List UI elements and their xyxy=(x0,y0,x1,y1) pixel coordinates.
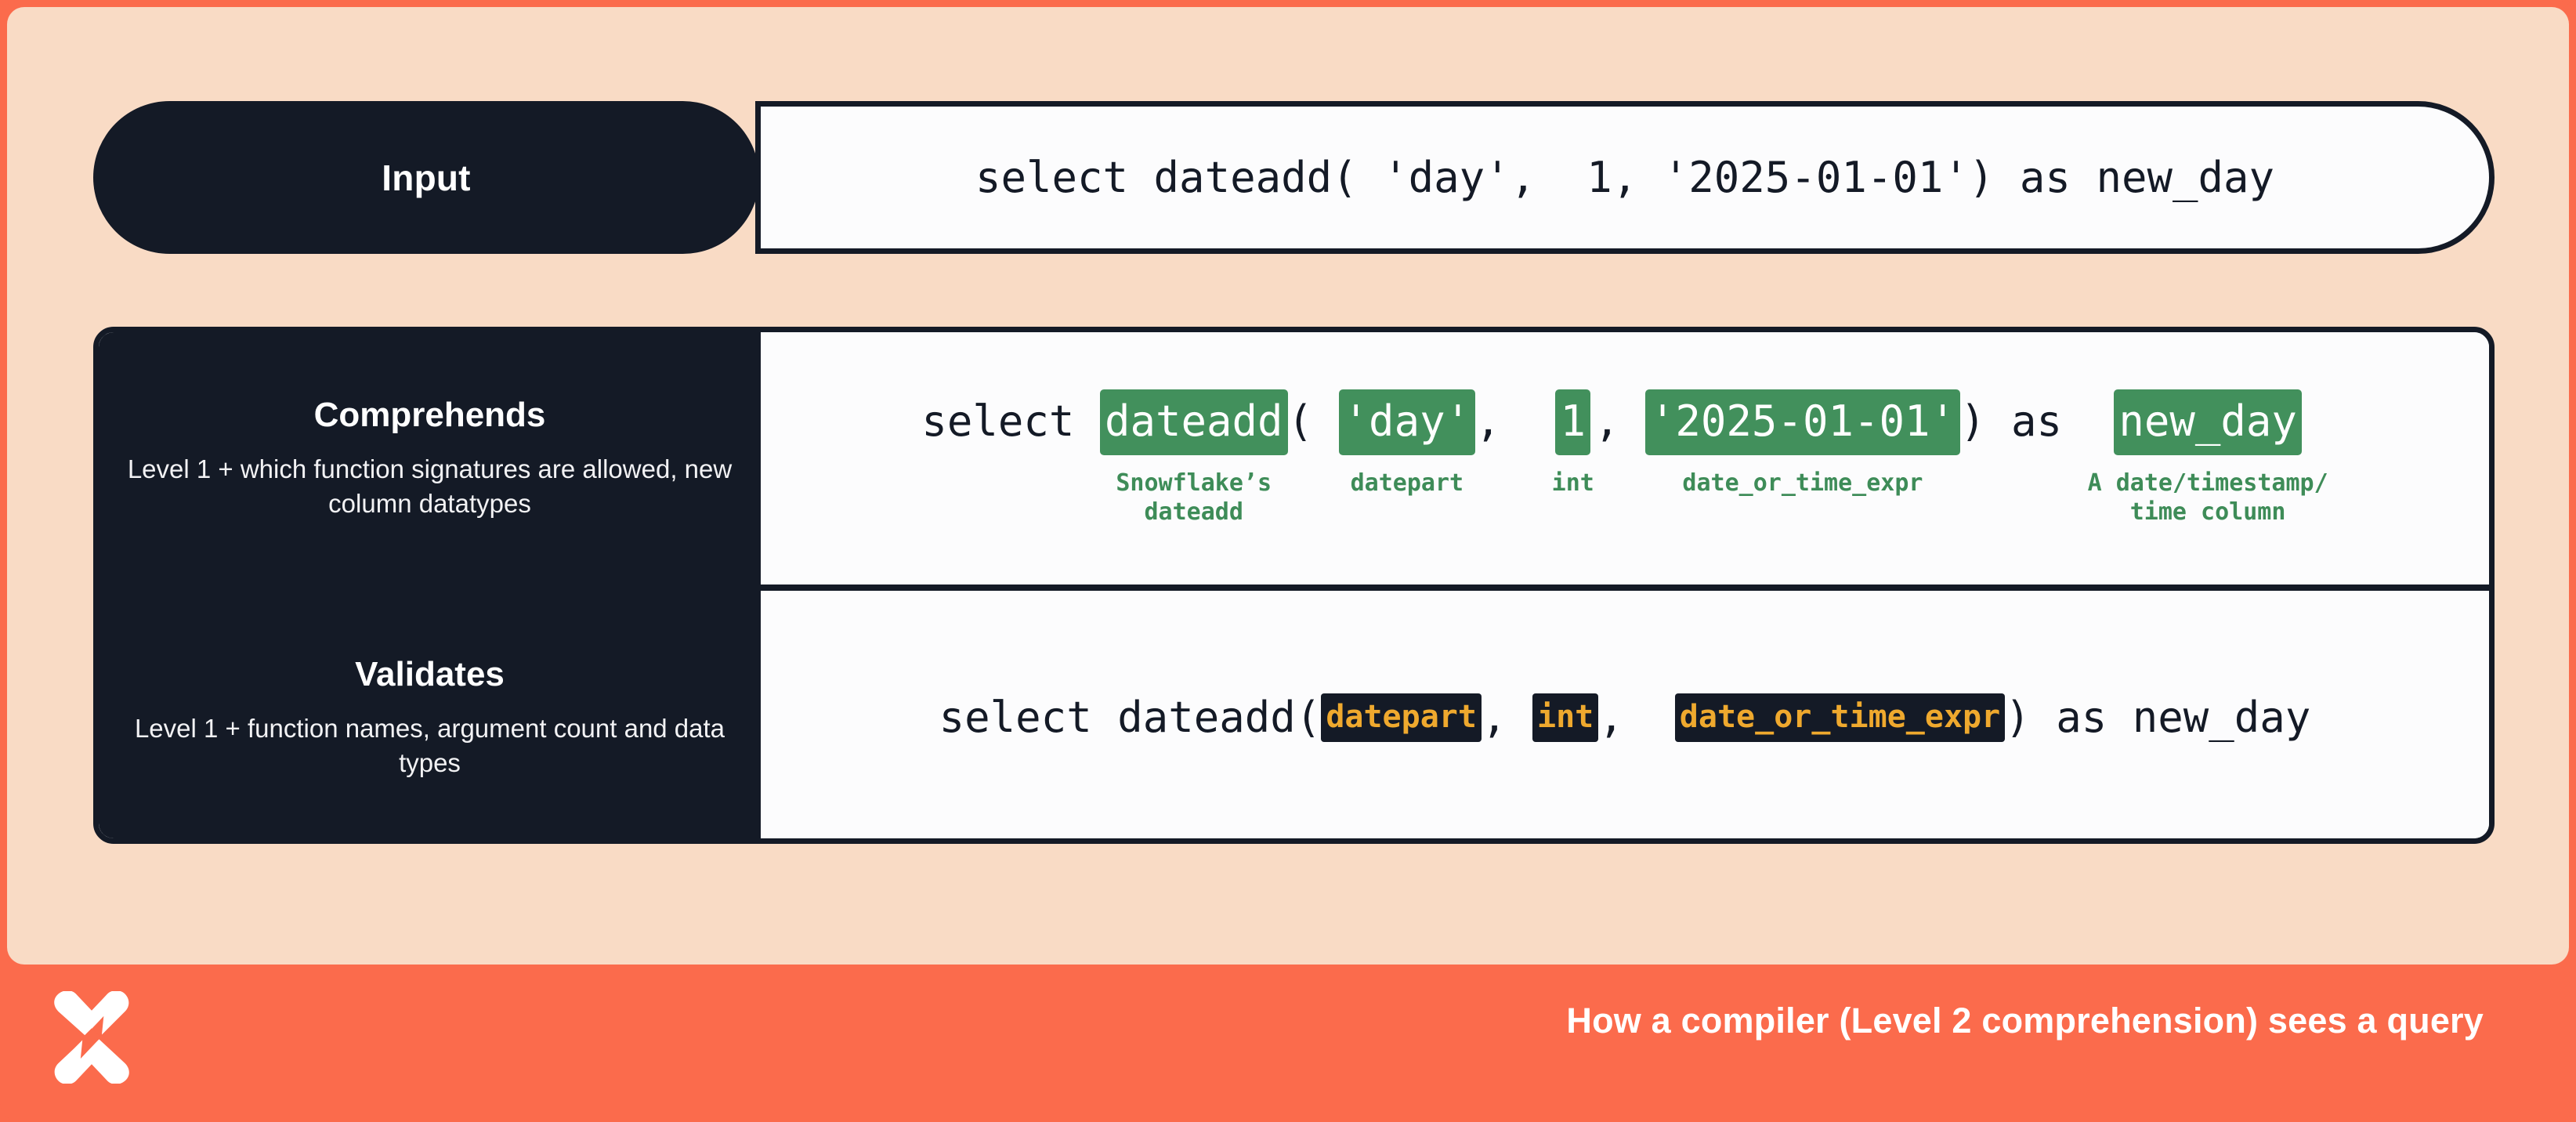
token-text: 'day' xyxy=(1339,389,1476,455)
comprehension-table: Comprehends Level 1 + which function sig… xyxy=(93,327,2495,844)
table-row: Comprehends Level 1 + which function sig… xyxy=(99,332,2489,585)
row-subtitle: Level 1 + which function signatures are … xyxy=(125,452,734,520)
input-row-label: Input xyxy=(93,101,759,254)
token-text: new_day xyxy=(2114,389,2302,455)
token-text: 1 xyxy=(1555,389,1590,455)
code-token: select dateadd( xyxy=(939,693,1322,742)
input-code-box: select dateadd( 'day', 1, '2025-01-01') … xyxy=(755,101,2495,254)
code-token: select xyxy=(921,389,1100,455)
row-subtitle: Level 1 + function names, argument count… xyxy=(125,711,734,780)
code-token: ( xyxy=(1288,389,1339,455)
token-text: select xyxy=(921,389,1100,455)
code-token: ) as new_day xyxy=(2005,693,2310,742)
placeholder-token: int xyxy=(1532,693,1598,742)
content-panel: Input select dateadd( 'day', 1, '2025-01… xyxy=(7,7,2569,965)
input-code-text: select dateadd( 'day', 1, '2025-01-01') … xyxy=(975,153,2274,202)
token-text: , xyxy=(1475,389,1552,455)
validates-code-line: select dateadd(datepart, int, date_or_ti… xyxy=(939,693,2311,742)
highlighted-token: 'day'datepart xyxy=(1339,389,1476,498)
table-row: Validates Level 1 + function names, argu… xyxy=(99,591,2489,844)
x-star-logo-icon xyxy=(45,991,138,1084)
footer-bar: How a compiler (Level 2 comprehension) s… xyxy=(0,961,2576,1122)
infographic-card: Input select dateadd( 'day', 1, '2025-01… xyxy=(0,0,2576,1122)
code-token: , xyxy=(1482,693,1532,742)
row-divider xyxy=(99,585,2489,591)
code-token: , xyxy=(1598,693,1675,742)
row-title: Validates xyxy=(355,655,505,694)
input-row: Input select dateadd( 'day', 1, '2025-01… xyxy=(93,101,2495,254)
token-annotation: date_or_time_expr xyxy=(1682,469,1923,498)
highlighted-token: dateaddSnowflake’s dateadd xyxy=(1100,389,1288,527)
token-text: , xyxy=(1594,389,1645,455)
row-title: Comprehends xyxy=(314,396,546,435)
row-body-comprehends: select dateaddSnowflake’s dateadd( 'day'… xyxy=(761,332,2489,585)
highlighted-token: '2025-01-01'date_or_time_expr xyxy=(1645,389,1960,498)
row-label-validates: Validates Level 1 + function names, argu… xyxy=(99,591,761,844)
highlighted-token: 1int xyxy=(1552,389,1594,498)
token-annotation: Snowflake’s dateadd xyxy=(1116,469,1272,527)
row-label-comprehends: Comprehends Level 1 + which function sig… xyxy=(99,332,761,585)
token-annotation: int xyxy=(1552,469,1594,498)
highlighted-token: new_dayA date/timestamp/ time column xyxy=(2088,389,2328,527)
placeholder-token: datepart xyxy=(1321,693,1482,742)
token-annotation: A date/timestamp/ time column xyxy=(2088,469,2328,527)
comprehends-code-line: select dateaddSnowflake’s dateadd( 'day'… xyxy=(921,389,2328,527)
token-text: '2025-01-01' xyxy=(1645,389,1960,455)
code-token: , xyxy=(1475,389,1552,455)
code-token: , xyxy=(1594,389,1645,455)
placeholder-token: date_or_time_expr xyxy=(1675,693,2005,742)
footer-caption: How a compiler (Level 2 comprehension) s… xyxy=(1566,1001,2484,1041)
token-text: dateadd xyxy=(1100,389,1288,455)
code-token: ) as xyxy=(1960,389,2088,455)
row-body-validates: select dateadd(datepart, int, date_or_ti… xyxy=(761,591,2489,844)
token-text: ( xyxy=(1288,389,1339,455)
token-text: ) as xyxy=(1960,389,2088,455)
token-annotation: datepart xyxy=(1351,469,1464,498)
